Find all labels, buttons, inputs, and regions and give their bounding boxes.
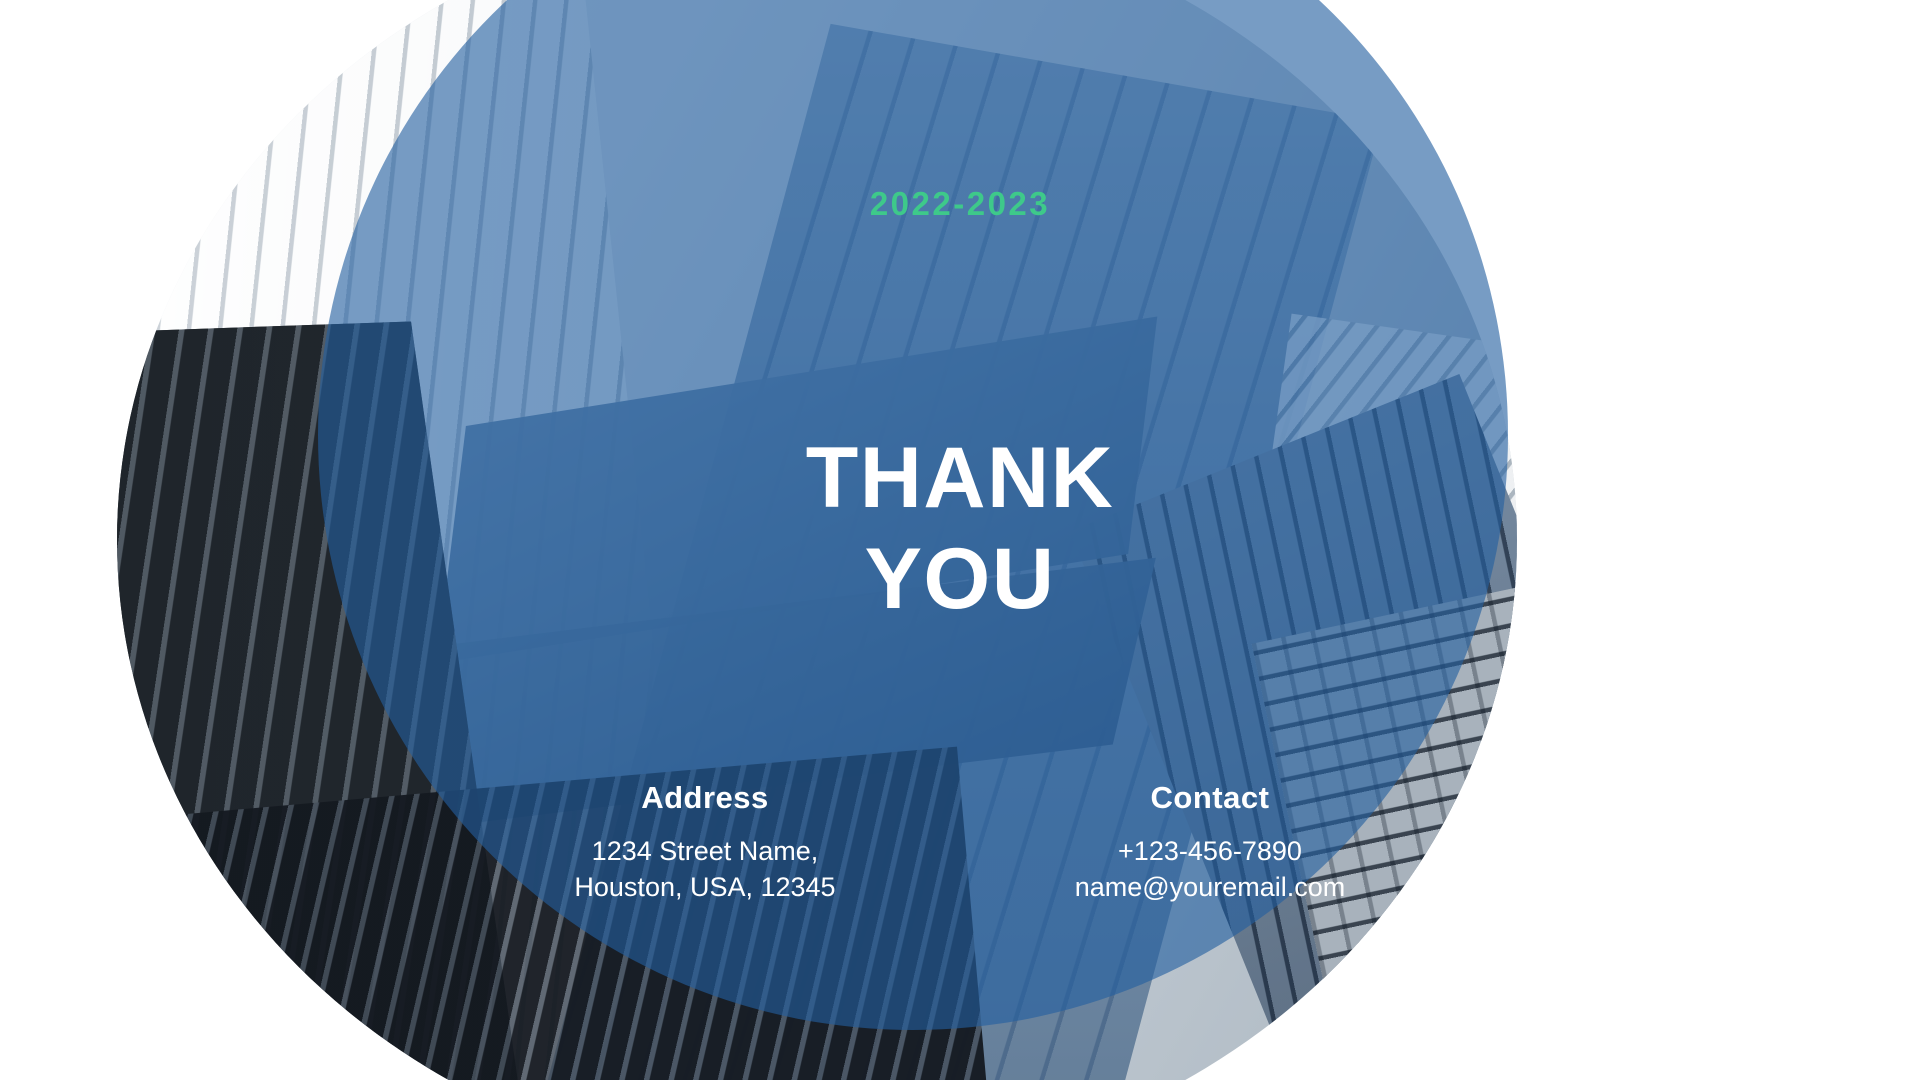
address-heading: Address <box>495 780 915 816</box>
contact-email: name@youremail.com <box>1000 869 1420 905</box>
thank-you-slide: 2022-2023 THANK YOU Address 1234 Street … <box>0 0 1920 1080</box>
contact-phone: +123-456-7890 <box>1000 833 1420 869</box>
address-line-1: 1234 Street Name, <box>495 833 915 869</box>
address-block: Address 1234 Street Name, Houston, USA, … <box>495 780 915 905</box>
contact-info-row: Address 1234 Street Name, Houston, USA, … <box>495 780 1420 905</box>
title-line-1: THANK <box>0 428 1920 529</box>
contact-block: Contact +123-456-7890 name@youremail.com <box>1000 780 1420 905</box>
year-label: 2022-2023 <box>0 185 1920 223</box>
contact-heading: Contact <box>1000 780 1420 816</box>
title-line-2: YOU <box>0 529 1920 630</box>
slide-content: 2022-2023 THANK YOU Address 1234 Street … <box>0 0 1920 1080</box>
address-line-2: Houston, USA, 12345 <box>495 869 915 905</box>
page-title: THANK YOU <box>0 428 1920 631</box>
